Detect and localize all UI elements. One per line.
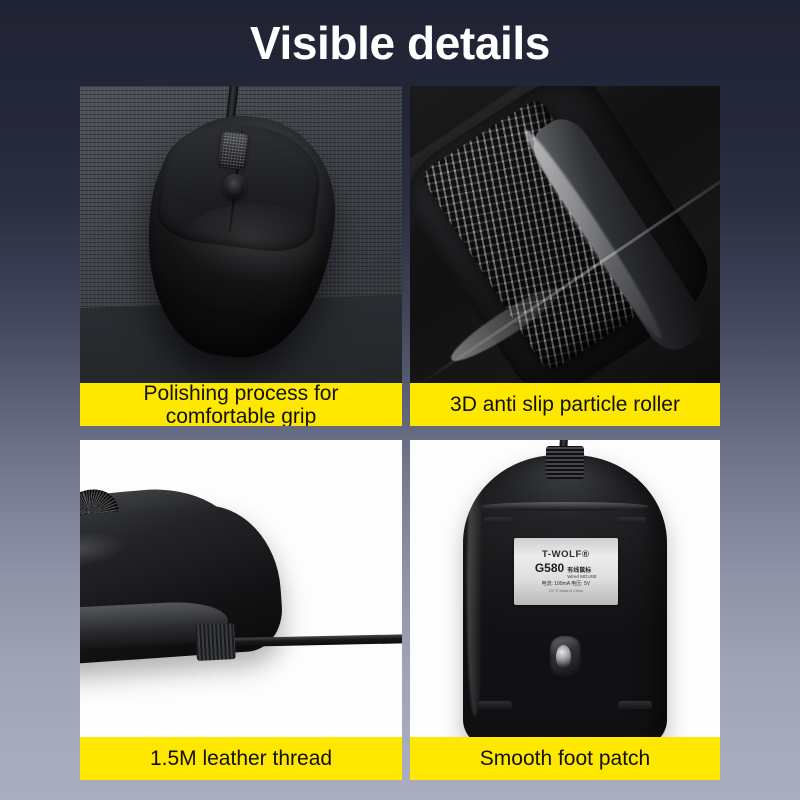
feature-panel-polishing[interactable]: Polishing process for comfortable grip — [80, 86, 402, 426]
page-title: Visible details — [0, 14, 800, 72]
feature-panel-roller[interactable]: 3D anti slip particle roller — [410, 86, 720, 426]
label-type: 有线鼠标 Wired MOUSE — [567, 568, 597, 579]
caption-polishing: Polishing process for comfortable grip — [80, 383, 402, 426]
optical-sensor-lens-icon — [556, 645, 572, 669]
photo-mouse-underside: T-WOLF® G580 有线鼠标 Wired MOUSE 电流: 100mA … — [410, 440, 720, 737]
product-detail-page: Visible details Polishing process for co… — [0, 0, 800, 800]
foot-patch-bottom-left — [478, 701, 512, 709]
label-type-en: Wired MOUSE — [567, 574, 597, 579]
label-origin: CE Ⓡ Made in China — [549, 589, 583, 594]
photo-mouse-side-profile — [80, 440, 402, 737]
caption-roller: 3D anti slip particle roller — [410, 383, 720, 426]
label-brand-text: T-WOLF — [542, 549, 582, 560]
photo-scroll-wheel-macro — [410, 86, 720, 383]
product-label: T-WOLF® G580 有线鼠标 Wired MOUSE 电流: 100mA … — [514, 538, 618, 605]
cable-strain-relief — [195, 623, 235, 661]
foot-patch-top-left — [484, 517, 512, 524]
feature-panel-grid: Polishing process for comfortable grip 3… — [80, 86, 720, 780]
foot-patch-top-right — [618, 517, 646, 524]
label-model-row: G580 有线鼠标 Wired MOUSE — [535, 562, 597, 579]
caption-footpatch: Smooth foot patch — [410, 737, 720, 780]
cable-strain-relief — [546, 446, 583, 479]
label-brand: T-WOLF® — [542, 550, 590, 560]
label-model: G580 — [535, 562, 564, 574]
scroll-wheel-icon — [218, 130, 249, 169]
label-trademark-icon: ® — [582, 549, 590, 560]
bottom-shell-edge-highlight — [467, 467, 483, 716]
feature-panel-thread[interactable]: 1.5M leather thread — [80, 440, 402, 780]
feature-panel-footpatch[interactable]: T-WOLF® G580 有线鼠标 Wired MOUSE 电流: 100mA … — [410, 440, 720, 780]
foot-patch-bottom-right — [618, 701, 652, 709]
label-spec: 电流: 100mA 电压: 5V — [541, 581, 590, 587]
caption-thread: 1.5M leather thread — [80, 737, 402, 780]
photo-mouse-top-view — [80, 86, 402, 383]
